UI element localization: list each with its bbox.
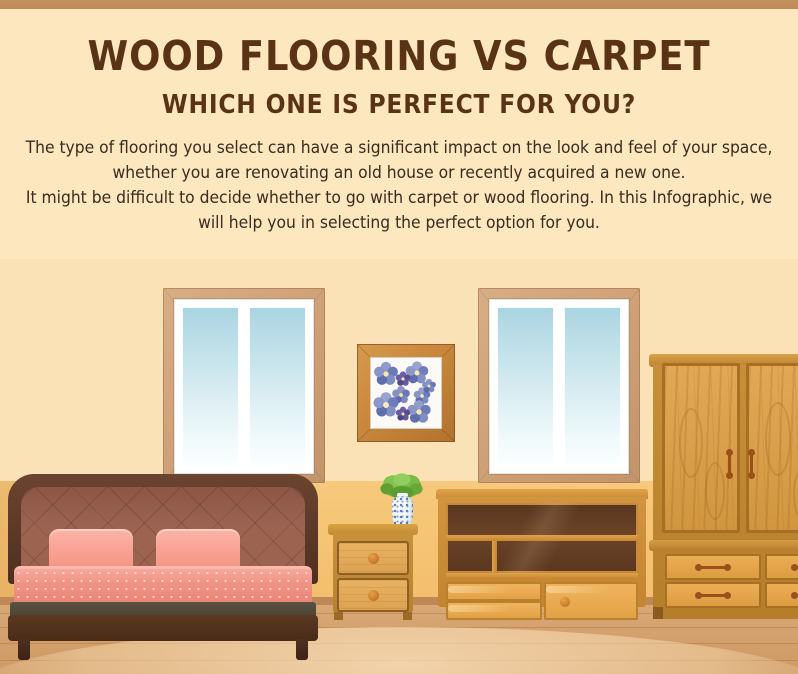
- window-panes: [182, 307, 306, 466]
- drawer-gloss: [546, 586, 609, 593]
- shelf-board: [446, 535, 638, 541]
- wood-grain-swirl: [679, 408, 703, 478]
- wardrobe-door: [662, 363, 740, 533]
- wardrobe-drawer-handle[interactable]: [791, 592, 798, 599]
- intro-paragraph-2: It might be difficult to decide whether …: [25, 186, 773, 235]
- wardrobe: [653, 354, 798, 619]
- intro-copy: The type of flooring you select can have…: [25, 136, 773, 235]
- wardrobe-mid-rail: [649, 540, 798, 551]
- shelf-unit-drawer: [446, 601, 542, 620]
- drawer-knob: [368, 553, 379, 564]
- shelf-board: [446, 573, 638, 579]
- shelf-divider: [492, 541, 497, 573]
- nightstand: [328, 524, 418, 620]
- wardrobe-leg: [653, 607, 663, 619]
- infographic-poster: WOOD FLOORING VS CARPET WHICH ONE IS PER…: [0, 0, 798, 674]
- window-left: [163, 288, 325, 483]
- wardrobe-door-handle[interactable]: [748, 449, 755, 479]
- drawer-gloss: [448, 605, 512, 612]
- window-inner-frame: [174, 299, 314, 474]
- window-right: [478, 288, 640, 483]
- wall-picture-flowers: [357, 344, 455, 442]
- top-accent-strip: [0, 0, 798, 9]
- bed-frame: [8, 615, 318, 641]
- flowers-icon: [370, 357, 442, 429]
- page-subtitle: WHICH ONE IS PERFECT FOR YOU?: [0, 90, 798, 120]
- shelf-unit-case: [438, 497, 646, 607]
- nightstand-leg: [403, 612, 412, 620]
- shelf-unit-drawer: [446, 582, 542, 601]
- shelf-unit: [436, 489, 648, 607]
- room-illustration: [0, 259, 798, 674]
- shelf-unit-drawer: [544, 582, 638, 620]
- intro-paragraph-1: The type of flooring you select can have…: [25, 136, 773, 185]
- drawer-knob: [560, 597, 570, 607]
- window-pane: [249, 307, 306, 466]
- window-pane: [497, 307, 554, 466]
- window-panes: [497, 307, 621, 466]
- page-title: WOOD FLOORING VS CARPET: [0, 35, 798, 78]
- bed-leg: [18, 639, 30, 660]
- picture-canvas: [370, 357, 442, 429]
- wardrobe-door: [746, 363, 798, 533]
- header-section: WOOD FLOORING VS CARPET WHICH ONE IS PER…: [0, 9, 798, 259]
- drawer-knob: [368, 590, 379, 601]
- window-inner-frame: [489, 299, 629, 474]
- mattress-dot-pattern: [14, 569, 312, 605]
- wardrobe-drawer-handle[interactable]: [695, 564, 731, 571]
- nightstand-drawer: [337, 578, 409, 612]
- drawer-gloss: [448, 586, 512, 593]
- wardrobe-door-handle[interactable]: [726, 449, 733, 479]
- wood-grain-swirl: [705, 462, 725, 520]
- bed: [8, 474, 318, 664]
- mattress: [14, 569, 312, 605]
- nightstand-drawer: [337, 541, 409, 575]
- window-pane: [564, 307, 621, 466]
- nightstand-leg: [334, 612, 343, 620]
- wardrobe-drawer-handle[interactable]: [791, 564, 798, 571]
- wardrobe-drawer-handle[interactable]: [695, 592, 731, 599]
- bed-leg: [296, 639, 308, 660]
- window-pane: [182, 307, 239, 466]
- wood-grain-swirl: [765, 402, 791, 476]
